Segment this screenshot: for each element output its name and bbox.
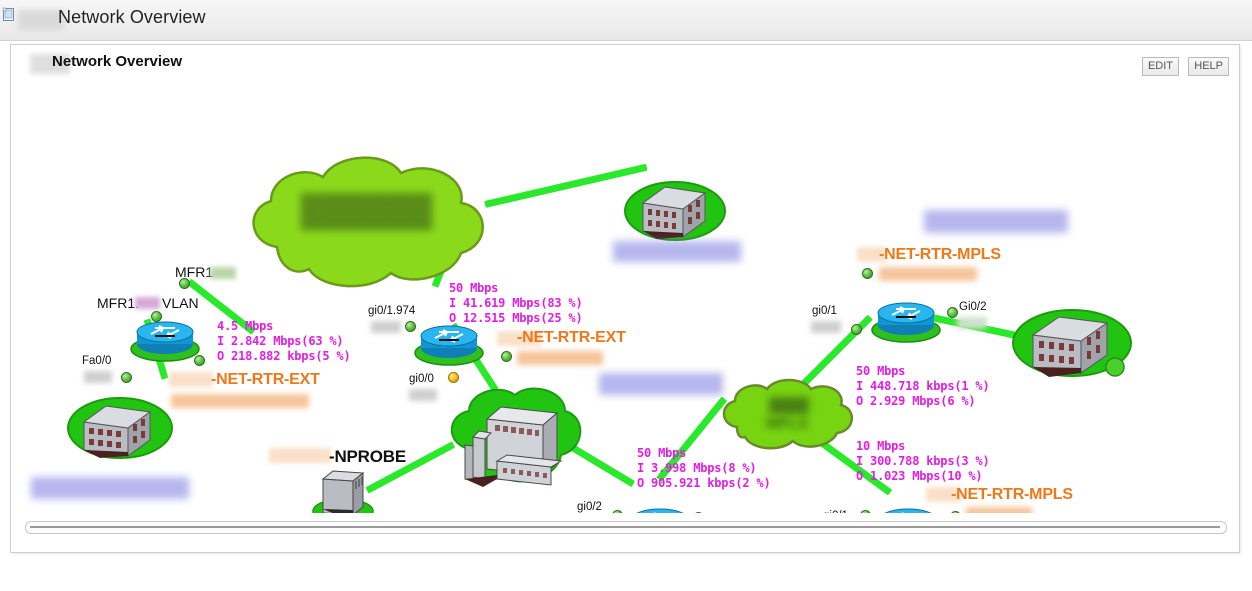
rtr-mpls-topright-label: -NET-RTR-MPLS [879,246,1001,264]
label-gi0-1-974-redaction [371,321,401,333]
rtr-mpls-bottomright-address-redaction [966,507,1032,513]
label-mfr1: MFR1 [175,264,213,280]
datacenter-building[interactable] [439,381,589,503]
status-dot-rtr-ext-left[interactable] [194,355,205,366]
window-titlebar: Network Overview [0,0,1252,41]
status-dot-gi0-2-bottomcenter[interactable] [612,510,623,513]
cloud-mpls-label-line2: MPLS [745,415,829,432]
stat-out: O 2.929 Mbps(6 %) [856,394,975,408]
label-mfr1-redaction [210,267,236,279]
status-dot-gi0-1-topright[interactable] [851,324,862,335]
network-overview-window: Network Overview Network Overview EDIT H… [0,0,1252,591]
nprobe-label-prefix-redaction [269,448,331,463]
nprobe-label: -NPROBE [329,447,406,467]
router-ext-center[interactable] [413,320,485,366]
rtr-ext-center-address-redaction [517,351,603,365]
link-stat-bottomright: 10 Mbps I 300.788 kbps(3 %) O 1.023 Mbps… [856,439,989,484]
label-fa0-0: Fa0/0 [82,355,111,367]
link-stat-left: 4.5 Mbps I 2.842 Mbps(63 %) O 218.882 kb… [217,319,350,364]
stat-capacity: 4.5 Mbps [217,319,273,333]
stat-in: I 3.998 Mbps(8 %) [637,461,756,475]
site-label-topright [924,210,1068,233]
cloud-main-label: ██████ [269,193,464,229]
stat-in: I 448.718 kbps(1 %) [856,379,989,393]
site-label-topcenter [613,241,741,262]
help-button[interactable]: HELP [1188,57,1229,76]
label-gi0-0: gi0/0 [409,373,434,385]
rtr-ext-left-prefix-redaction [169,372,213,387]
stat-capacity: 50 Mbps [449,281,498,295]
window-title: Network Overview [58,7,206,28]
link-stat-center: 50 Mbps I 3.998 Mbps(8 %) O 905.921 kbps… [637,446,770,491]
stat-out: O 905.921 kbps(2 %) [637,476,770,490]
router-mpls-bottomcenter[interactable] [624,503,696,513]
network-overview-panel: Network Overview EDIT HELP █ [10,44,1240,553]
label-gi0-1-bottomright: gi0/1 [823,510,848,513]
router-ext-left[interactable] [129,316,201,362]
rtr-ext-left-address-redaction [171,394,309,408]
panel-footer [11,514,1239,552]
label-gi0-1-topright: gi0/1 [812,305,837,317]
document-icon [3,8,14,21]
stat-capacity: 50 Mbps [856,364,905,378]
stat-out: O 1.023 Mbps(10 %) [856,469,982,483]
status-dot-gi0-1-bottomright[interactable] [860,510,871,513]
status-dot-gi0-0[interactable] [448,372,459,383]
stat-in: I 41.619 Mbps(83 %) [449,296,582,310]
stat-capacity: 10 Mbps [856,439,905,453]
label-mfr1-vlan-suffix: VLAN [162,295,199,311]
status-dot-rtr-mpls-topright[interactable] [862,268,873,279]
panel-header: Network Overview EDIT HELP [11,45,1239,83]
nprobe-server[interactable] [309,465,377,513]
status-dot-fa0-0[interactable] [121,372,132,383]
site-building-right[interactable] [1011,289,1133,381]
rtr-ext-left-label: -NET-RTR-EXT [211,371,320,389]
horizontal-scrollbar[interactable] [25,521,1227,534]
link-stat-topright: 50 Mbps I 448.718 kbps(1 %) O 2.929 Mbps… [856,364,989,409]
rtr-mpls-bottomright-label: -NET-RTR-MPLS [951,486,1073,504]
label-gi0-2-bottomcenter: gi0/2 [577,501,602,513]
page-title: Network Overview [52,53,182,70]
router-mpls-bottomright[interactable] [872,503,944,513]
site-label-center [599,373,723,395]
site-building-topcenter[interactable] [623,163,727,243]
label-fa0-0-redaction [84,371,112,383]
rtr-mpls-topright-address-redaction [879,267,977,281]
stat-out: O 12.515 Mbps(25 %) [449,311,582,325]
status-dot-gi0-1-974[interactable] [405,321,416,332]
site-label-left [31,477,189,499]
stat-in: I 2.842 Mbps(63 %) [217,334,343,348]
rtr-ext-center-label: -NET-RTR-EXT [517,329,626,347]
site-building-left[interactable] [66,378,174,460]
label-mfr1-vlan: MFR1. [97,295,139,311]
label-gi0-0-redaction [409,389,437,401]
cloud-mpls-label-line1: ████ [753,397,825,413]
label-gi0-2-topright: Gi0/2 [959,301,987,313]
topology-canvas[interactable]: ██████ ████ MPLS [11,83,1239,513]
status-dot-rtr-mpls-bottomright[interactable] [950,511,961,513]
label-mfr1-vlan-redaction [135,297,160,309]
label-gi0-2-topright-redaction [957,317,987,329]
label-gi0-1-974: gi0/1.974 [368,305,415,317]
router-mpls-topright[interactable] [870,297,942,343]
stat-capacity: 50 Mbps [637,446,686,460]
status-dot-mfr1-vlan[interactable] [151,311,162,322]
stat-in: I 300.788 kbps(3 %) [856,454,989,468]
edit-button[interactable]: EDIT [1142,57,1179,76]
stat-out: O 218.882 kbps(5 %) [217,349,350,363]
cloud-main[interactable]: ██████ [241,151,491,296]
link-stat-topcenter: 50 Mbps I 41.619 Mbps(83 %) O 12.515 Mbp… [449,281,582,326]
status-dot-rtr-ext-center[interactable] [501,351,512,362]
label-gi0-1-topright-redaction [811,321,841,333]
cloud-mpls[interactable]: ████ MPLS [717,377,857,453]
